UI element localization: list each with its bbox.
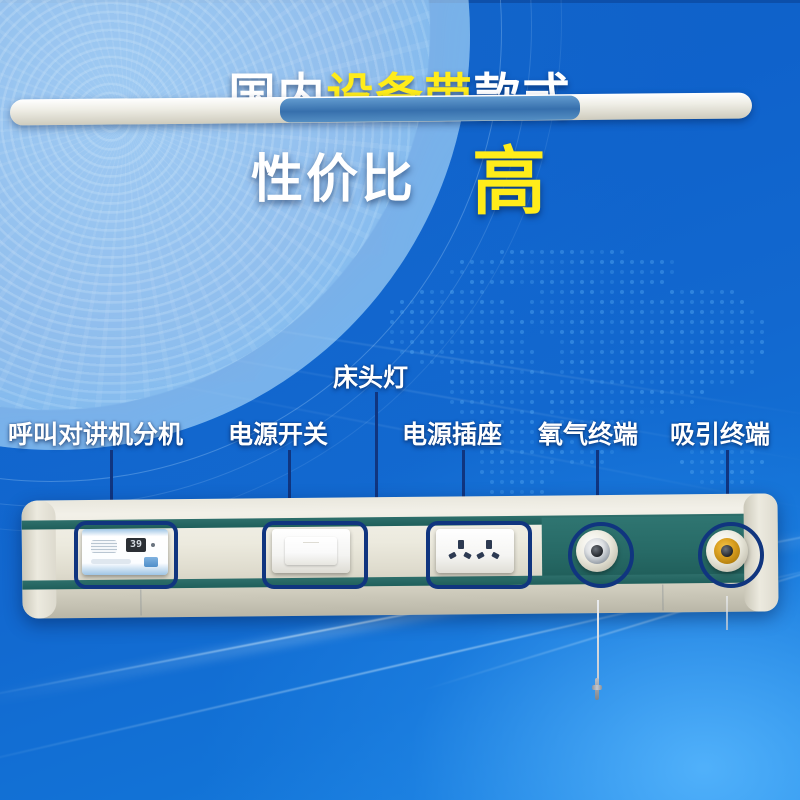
map-dot — [440, 340, 444, 344]
map-dot — [600, 350, 604, 354]
map-dot — [420, 320, 424, 324]
map-dot — [470, 350, 474, 354]
map-dot — [520, 320, 524, 324]
map-dot — [600, 330, 604, 334]
map-dot — [730, 380, 734, 384]
map-dot — [620, 250, 624, 254]
map-dot — [440, 330, 444, 334]
map-dot — [680, 340, 684, 344]
map-dot — [540, 320, 544, 324]
map-dot — [460, 340, 464, 344]
map-dot — [450, 390, 454, 394]
map-dot — [660, 350, 664, 354]
map-dot — [540, 480, 544, 484]
map-dot — [600, 340, 604, 344]
map-dot — [670, 260, 674, 264]
map-dot — [500, 400, 504, 404]
map-dot — [580, 400, 584, 404]
map-dot — [640, 260, 644, 264]
map-dot — [580, 250, 584, 254]
map-dot — [390, 330, 394, 334]
map-dot — [470, 410, 474, 414]
map-dot — [610, 400, 614, 404]
map-dot — [540, 280, 544, 284]
map-dot — [630, 390, 634, 394]
map-dot — [490, 270, 494, 274]
map-dot — [510, 490, 514, 494]
map-dot — [730, 480, 734, 484]
map-dot — [580, 390, 584, 394]
pendant-horizontal — [592, 685, 602, 690]
map-dot — [470, 330, 474, 334]
map-dot — [640, 310, 644, 314]
map-dot — [660, 400, 664, 404]
map-dot — [530, 490, 534, 494]
map-dot — [510, 320, 514, 324]
map-dot — [580, 380, 584, 384]
map-dot — [580, 290, 584, 294]
map-dot — [570, 460, 574, 464]
map-dot — [630, 360, 634, 364]
map-dot — [740, 320, 744, 324]
map-dot — [520, 400, 524, 404]
map-dot — [460, 410, 464, 414]
map-dot — [690, 290, 694, 294]
map-dot — [430, 340, 434, 344]
map-dot — [710, 380, 714, 384]
map-dot — [560, 270, 564, 274]
map-dot — [460, 370, 464, 374]
map-dot — [630, 300, 634, 304]
map-dot — [610, 330, 614, 334]
map-dot — [670, 360, 674, 364]
map-dot — [560, 370, 564, 374]
map-dot — [710, 370, 714, 374]
map-dot — [520, 330, 524, 334]
map-dot — [580, 260, 584, 264]
map-dot — [530, 350, 534, 354]
map-dot — [750, 330, 754, 334]
map-dot — [570, 280, 574, 284]
map-dot — [670, 310, 674, 314]
map-dot — [460, 400, 464, 404]
map-dot — [740, 310, 744, 314]
map-dot — [610, 250, 614, 254]
map-dot — [700, 360, 704, 364]
map-dot — [530, 380, 534, 384]
map-dot — [480, 400, 484, 404]
map-dot — [400, 310, 404, 314]
map-dot — [460, 330, 464, 334]
map-dot — [520, 420, 524, 424]
map-dot — [650, 400, 654, 404]
map-dot — [490, 260, 494, 264]
map-dot — [510, 310, 514, 314]
map-dot — [570, 400, 574, 404]
map-dot — [480, 260, 484, 264]
map-dot — [570, 260, 574, 264]
map-dot — [520, 350, 524, 354]
map-dot — [520, 410, 524, 414]
map-dot — [560, 330, 564, 334]
map-dot — [390, 310, 394, 314]
map-dot — [570, 410, 574, 414]
panel-seam-right — [662, 584, 663, 610]
panel-seam-left — [140, 589, 141, 615]
map-dot — [560, 260, 564, 264]
map-dot — [600, 300, 604, 304]
map-dot — [570, 370, 574, 374]
map-dot — [610, 270, 614, 274]
map-dot — [580, 310, 584, 314]
map-dot — [440, 290, 444, 294]
map-dot — [630, 320, 634, 324]
map-dot — [450, 400, 454, 404]
map-dot — [450, 370, 454, 374]
map-dot — [640, 300, 644, 304]
map-dot — [490, 360, 494, 364]
map-dot — [400, 330, 404, 334]
map-dot — [670, 320, 674, 324]
map-dot — [560, 250, 564, 254]
map-dot — [550, 280, 554, 284]
map-dot — [470, 270, 474, 274]
map-dot — [650, 370, 654, 374]
map-dot — [480, 380, 484, 384]
map-dot — [650, 270, 654, 274]
map-dot — [540, 270, 544, 274]
map-dot — [620, 400, 624, 404]
map-dot — [720, 470, 724, 474]
map-dot — [470, 370, 474, 374]
map-dot — [480, 390, 484, 394]
callout-label-socket: 电源插座 — [402, 415, 502, 451]
map-dot — [470, 310, 474, 314]
map-dot — [420, 310, 424, 314]
map-dot — [720, 320, 724, 324]
map-dot — [500, 330, 504, 334]
highlight-box-socket — [426, 521, 532, 589]
map-dot — [550, 270, 554, 274]
map-dot — [590, 400, 594, 404]
map-dot — [520, 480, 524, 484]
headline-line-2: 性价比高 — [0, 145, 800, 219]
map-dot — [640, 320, 644, 324]
map-dot — [640, 400, 644, 404]
map-dot — [710, 330, 714, 334]
map-dot — [760, 330, 764, 334]
map-dot — [660, 310, 664, 314]
callout-label-intercom: 呼叫对讲机分机 — [8, 415, 183, 451]
map-dot — [480, 460, 484, 464]
map-dot — [710, 320, 714, 324]
map-dot — [420, 350, 424, 354]
map-dot — [650, 280, 654, 284]
map-dot — [530, 480, 534, 484]
map-dot — [760, 350, 764, 354]
map-dot — [690, 330, 694, 334]
map-dot — [500, 390, 504, 394]
map-dot — [720, 360, 724, 364]
map-dot — [500, 380, 504, 384]
map-dot — [460, 350, 464, 354]
map-dot — [480, 340, 484, 344]
map-dot — [550, 310, 554, 314]
map-dot — [540, 470, 544, 474]
map-dot — [610, 310, 614, 314]
map-dot — [510, 340, 514, 344]
map-dot — [620, 290, 624, 294]
map-dot — [680, 320, 684, 324]
map-dot — [560, 400, 564, 404]
map-dot — [540, 260, 544, 264]
map-dot — [520, 440, 524, 444]
map-dot — [620, 350, 624, 354]
map-dot — [450, 290, 454, 294]
map-dot — [450, 360, 454, 364]
map-dot — [720, 300, 724, 304]
map-dot — [550, 470, 554, 474]
protective-film-wrap — [280, 96, 580, 123]
map-dot — [680, 330, 684, 334]
map-dot — [720, 380, 724, 384]
map-dot — [640, 270, 644, 274]
map-dot — [720, 480, 724, 484]
map-dot — [520, 360, 524, 364]
map-dot — [570, 320, 574, 324]
map-dot — [580, 360, 584, 364]
map-dot — [580, 280, 584, 284]
map-dot — [430, 300, 434, 304]
map-dot — [750, 310, 754, 314]
map-dot — [700, 320, 704, 324]
map-dot — [440, 320, 444, 324]
map-dot — [690, 320, 694, 324]
map-dot — [690, 380, 694, 384]
pull-cord-line[interactable] — [597, 600, 599, 684]
map-dot — [520, 280, 524, 284]
map-dot — [600, 250, 604, 254]
map-dot — [550, 330, 554, 334]
map-dot — [490, 340, 494, 344]
map-dot — [620, 320, 624, 324]
map-dot — [710, 360, 714, 364]
map-dot — [590, 410, 594, 414]
map-dot — [490, 490, 494, 494]
map-dot — [530, 250, 534, 254]
map-dot — [510, 450, 514, 454]
map-dot — [530, 460, 534, 464]
map-dot — [720, 340, 724, 344]
map-dot — [500, 310, 504, 314]
map-dot — [670, 390, 674, 394]
map-dot — [430, 290, 434, 294]
map-dot — [670, 400, 674, 404]
map-dot — [650, 320, 654, 324]
map-dot — [440, 350, 444, 354]
map-dot — [640, 290, 644, 294]
map-dot — [590, 330, 594, 334]
map-dot — [630, 260, 634, 264]
map-dot — [390, 340, 394, 344]
map-dot — [670, 380, 674, 384]
map-dot — [450, 300, 454, 304]
map-dot — [510, 430, 514, 434]
map-dot — [490, 350, 494, 354]
map-dot — [450, 350, 454, 354]
map-dot — [700, 350, 704, 354]
map-dot — [620, 260, 624, 264]
map-dot — [650, 260, 654, 264]
map-dot — [630, 330, 634, 334]
map-dot — [600, 320, 604, 324]
map-dot — [570, 250, 574, 254]
map-dot — [620, 330, 624, 334]
map-dot — [490, 300, 494, 304]
map-dot — [550, 250, 554, 254]
map-dot — [490, 280, 494, 284]
map-dot — [740, 350, 744, 354]
map-dot — [620, 370, 624, 374]
map-dot — [600, 410, 604, 414]
map-dot — [620, 360, 624, 364]
map-dot — [750, 340, 754, 344]
map-dot — [460, 290, 464, 294]
map-dot — [700, 480, 704, 484]
map-dot — [510, 380, 514, 384]
map-dot — [580, 370, 584, 374]
map-dot — [750, 350, 754, 354]
map-dot — [740, 470, 744, 474]
map-dot — [550, 290, 554, 294]
callout-label-suction: 吸引终端 — [670, 415, 770, 451]
map-dot — [540, 310, 544, 314]
map-dot — [700, 300, 704, 304]
map-dot — [590, 300, 594, 304]
map-dot — [710, 300, 714, 304]
map-dot — [540, 380, 544, 384]
map-dot — [690, 350, 694, 354]
map-dot — [700, 380, 704, 384]
map-dot — [630, 340, 634, 344]
map-dot — [630, 380, 634, 384]
map-dot — [700, 460, 704, 464]
map-dot — [630, 280, 634, 284]
map-dot — [530, 400, 534, 404]
map-dot — [630, 370, 634, 374]
map-dot — [650, 340, 654, 344]
map-dot — [710, 480, 714, 484]
highlight-circle-suction — [698, 522, 764, 588]
map-dot — [700, 340, 704, 344]
map-dot — [510, 350, 514, 354]
map-dot — [700, 310, 704, 314]
map-dot — [430, 320, 434, 324]
map-dot — [550, 410, 554, 414]
map-dot — [660, 330, 664, 334]
map-dot — [730, 330, 734, 334]
map-dot — [530, 370, 534, 374]
map-dot — [690, 390, 694, 394]
map-dot — [440, 300, 444, 304]
map-dot — [500, 260, 504, 264]
map-dot — [540, 300, 544, 304]
map-dot — [420, 290, 424, 294]
map-dot — [640, 370, 644, 374]
map-dot — [640, 330, 644, 334]
map-dot — [570, 300, 574, 304]
map-dot — [530, 300, 534, 304]
map-dot — [560, 310, 564, 314]
map-dot — [730, 460, 734, 464]
map-dot — [410, 350, 414, 354]
pull-cord-pendant[interactable] — [592, 678, 602, 700]
map-dot — [400, 320, 404, 324]
map-dot — [530, 260, 534, 264]
map-dot — [590, 280, 594, 284]
map-dot — [510, 360, 514, 364]
map-dot — [480, 290, 484, 294]
map-dot — [750, 460, 754, 464]
map-dot — [540, 390, 544, 394]
map-dot — [500, 350, 504, 354]
map-dot — [700, 470, 704, 474]
map-dot — [690, 470, 694, 474]
map-dot — [680, 290, 684, 294]
map-dot — [570, 270, 574, 274]
map-dot — [700, 290, 704, 294]
map-dot — [640, 360, 644, 364]
map-dot — [630, 410, 634, 414]
map-dot — [650, 310, 654, 314]
map-dot — [590, 340, 594, 344]
map-dot — [630, 270, 634, 274]
map-dot — [500, 340, 504, 344]
map-dot — [550, 460, 554, 464]
map-dot — [540, 490, 544, 494]
map-dot — [670, 350, 674, 354]
map-dot — [410, 340, 414, 344]
map-dot — [640, 280, 644, 284]
map-dot — [480, 410, 484, 414]
map-dot — [500, 320, 504, 324]
map-dot — [740, 300, 744, 304]
map-dot — [700, 330, 704, 334]
map-dot — [590, 370, 594, 374]
map-dot — [760, 460, 764, 464]
map-dot — [500, 270, 504, 274]
map-dot — [480, 330, 484, 334]
map-dot — [620, 280, 624, 284]
map-dot — [680, 370, 684, 374]
map-dot — [510, 470, 514, 474]
map-dot — [530, 430, 534, 434]
map-dot — [600, 280, 604, 284]
map-dot — [530, 310, 534, 314]
map-dot — [520, 250, 524, 254]
map-dot — [580, 460, 584, 464]
map-dot — [490, 310, 494, 314]
map-dot — [730, 290, 734, 294]
map-dot — [410, 300, 414, 304]
map-dot — [760, 320, 764, 324]
map-dot — [680, 350, 684, 354]
map-dot — [610, 390, 614, 394]
map-dot — [590, 270, 594, 274]
map-dot — [630, 350, 634, 354]
map-dot — [650, 350, 654, 354]
map-dot — [660, 410, 664, 414]
